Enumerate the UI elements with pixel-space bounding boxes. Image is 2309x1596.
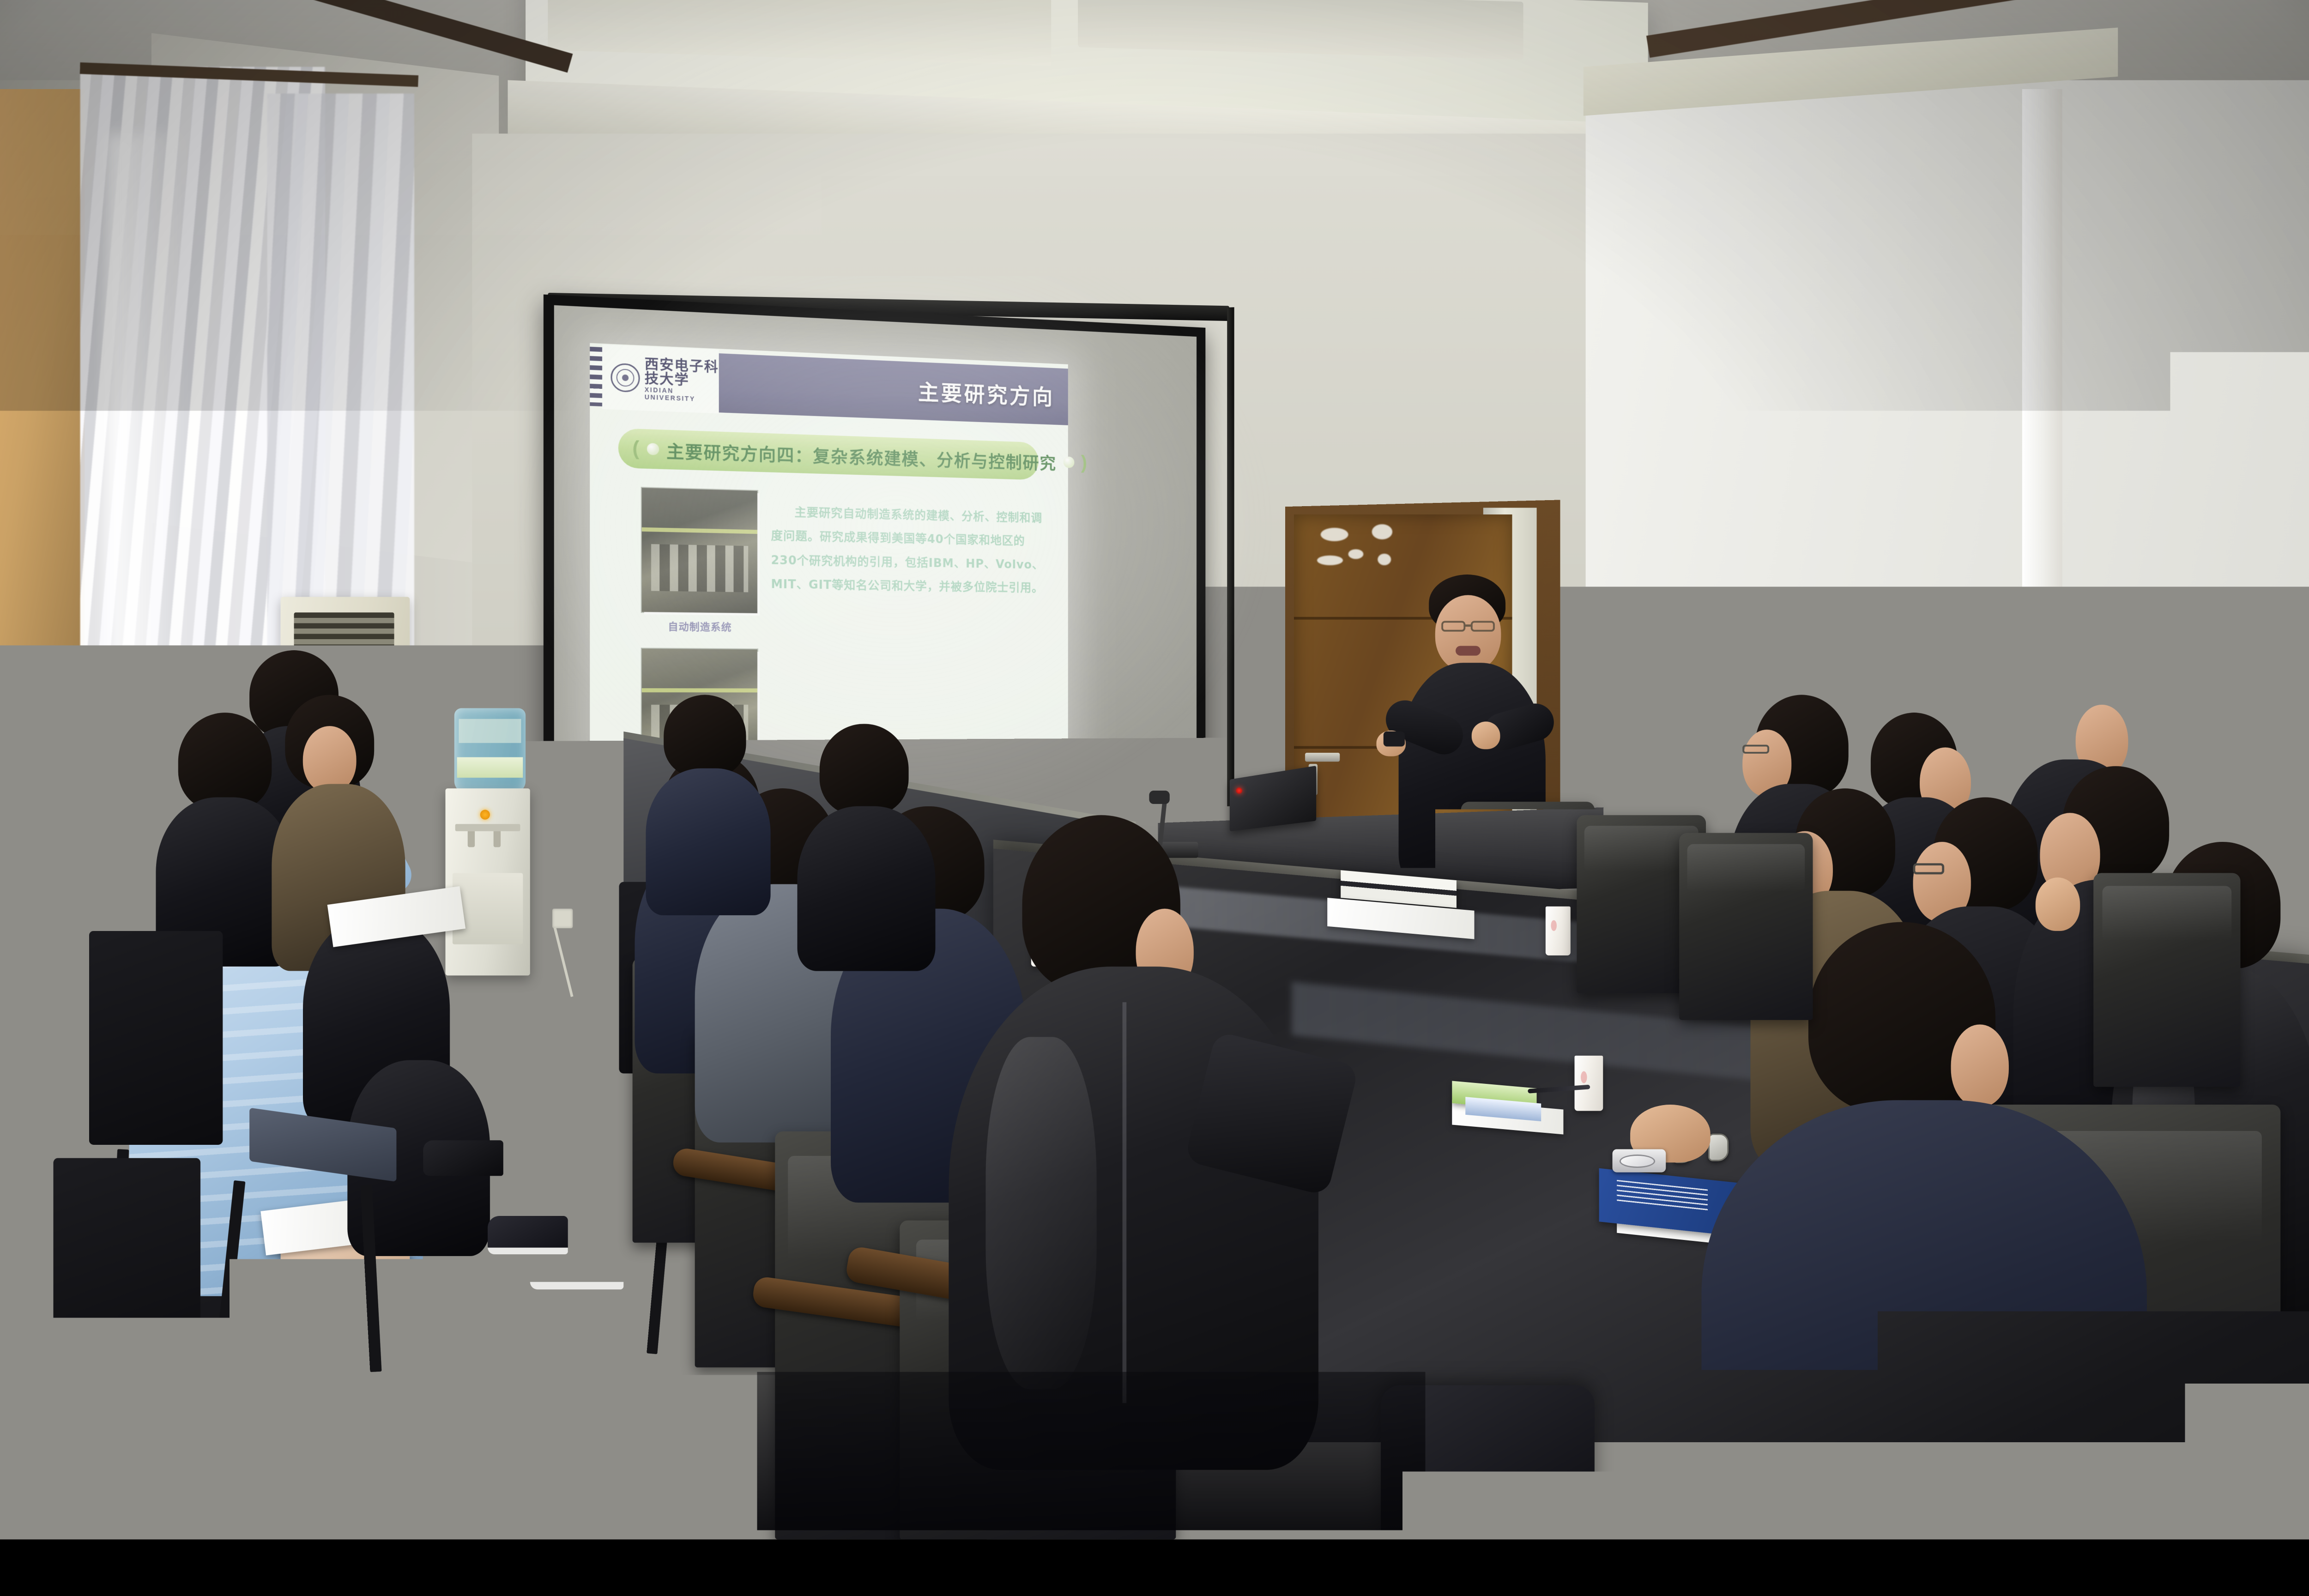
slide-barcode-decoration	[590, 347, 602, 406]
wall-power-socket[interactable]	[552, 909, 573, 928]
microphone-icon	[1149, 791, 1169, 804]
conference-room-photo: 主要研究方向 西安电子科技大学 XIDIAN UNIVERSITY ( 主要研	[0, 0, 2309, 1539]
slide-section-banner-text: 主要研究方向四：复杂系统建模、分析与控制研究	[666, 437, 1057, 474]
projection-screen-surface: 主要研究方向 西安电子科技大学 XIDIAN UNIVERSITY ( 主要研	[554, 305, 1197, 785]
foreground-shadow	[757, 1372, 1426, 1540]
slide-header-bar: 主要研究方向	[707, 353, 1068, 425]
projection-screen: 主要研究方向 西安电子科技大学 XIDIAN UNIVERSITY ( 主要研	[544, 295, 1205, 795]
attendee-jacket	[797, 806, 935, 971]
door-scuff-mark	[1317, 556, 1343, 565]
executive-chair[interactable]	[1679, 833, 1813, 1020]
university-name-en: XIDIAN UNIVERSITY	[645, 386, 719, 403]
attendee-head	[303, 726, 357, 793]
slide-body-paragraph: 主要研究自动制造系统的建模、分析、控制和调度问题。研究成果得到美国等40个国家和…	[771, 500, 1047, 600]
water-dispenser-drip-tray	[455, 824, 520, 831]
slide-section-banner: ( 主要研究方向四：复杂系统建模、分析与控制研究 )	[618, 428, 1039, 480]
executive-chair[interactable]	[2093, 873, 2240, 1087]
slide-body: 自动制造系统 制造系统生产线调度 主要研究自动制造系统的建模、分析、控制和调度问…	[590, 477, 1068, 759]
door-scuff-mark	[1372, 524, 1392, 539]
laptop-power-led-icon	[1236, 787, 1243, 794]
presenter-glasses-icon	[1441, 621, 1465, 632]
presentation-clicker[interactable]	[1384, 731, 1405, 747]
wristwatch-face	[1620, 1155, 1655, 1168]
presenter-glasses-icon	[1471, 621, 1495, 632]
door-scuff-mark	[1321, 528, 1348, 541]
slide-header: 主要研究方向 西安电子科技大学 XIDIAN UNIVERSITY	[590, 343, 1068, 429]
shoe	[503, 1372, 592, 1413]
water-bottle	[18, 753, 44, 820]
presenter-sweater-front	[1447, 687, 1493, 842]
slide-text-column: 主要研究自动制造系统的建模、分析、控制和调度问题。研究成果得到美国等40个国家和…	[767, 482, 1068, 758]
water-bottle	[48, 766, 72, 824]
attendee-jacket	[646, 768, 771, 915]
presenter-glasses-bridge	[1463, 624, 1472, 627]
photographer-legs	[169, 1296, 379, 1528]
attendee-hair	[664, 695, 746, 777]
attendee-hair	[820, 724, 909, 815]
attendee-suit	[1701, 1100, 2147, 1539]
university-name-cn: 西安电子科技大学	[645, 357, 719, 388]
stacking-chair-back[interactable]	[54, 1158, 200, 1390]
attendee-glasses-icon	[1913, 863, 1945, 874]
paper-cup	[1575, 1056, 1603, 1111]
jacket-seam	[1123, 1002, 1127, 1403]
attendee-glasses-icon	[1742, 745, 1769, 754]
slide-figure-image-1	[642, 488, 757, 613]
sneaker	[488, 1216, 568, 1254]
slide-figure-caption-1: 自动制造系统	[642, 618, 757, 634]
door-scuff-mark	[1378, 554, 1391, 565]
water-dispenser-indicator-light	[480, 810, 490, 819]
water-bottle-label	[457, 757, 523, 778]
projection-screen-side-rail	[1227, 307, 1234, 806]
slide-header-title: 主要研究方向	[918, 375, 1055, 411]
banner-bullet-icon	[647, 443, 659, 455]
water-dispenser-hot-tap[interactable]	[468, 831, 475, 847]
university-crest-icon	[610, 363, 640, 393]
attendee-hair	[178, 713, 272, 810]
presenter-mouth	[1456, 646, 1481, 656]
projected-slide: 主要研究方向 西安电子科技大学 XIDIAN UNIVERSITY ( 主要研	[590, 343, 1068, 760]
banner-bullet-right-icon	[1063, 456, 1074, 468]
attendee-ear	[1951, 1024, 2009, 1106]
door-scuff-mark	[1348, 549, 1364, 559]
water-dispenser-cold-tap[interactable]	[494, 831, 501, 847]
slide-university-logo: 西安电子科技大学 XIDIAN UNIVERSITY	[602, 345, 719, 413]
water-dispenser-cabinet-door[interactable]	[453, 873, 523, 944]
door-handle[interactable]	[1305, 753, 1340, 762]
presenter-head	[1435, 595, 1501, 672]
document-text-lines	[1617, 1179, 1708, 1213]
eyeglasses-right-lens	[1708, 1134, 1729, 1161]
stacking-chair-back[interactable]	[89, 931, 223, 1145]
window-wood-panel	[0, 89, 85, 713]
shoe	[423, 1140, 503, 1176]
water-bottle-label-top	[459, 719, 521, 743]
